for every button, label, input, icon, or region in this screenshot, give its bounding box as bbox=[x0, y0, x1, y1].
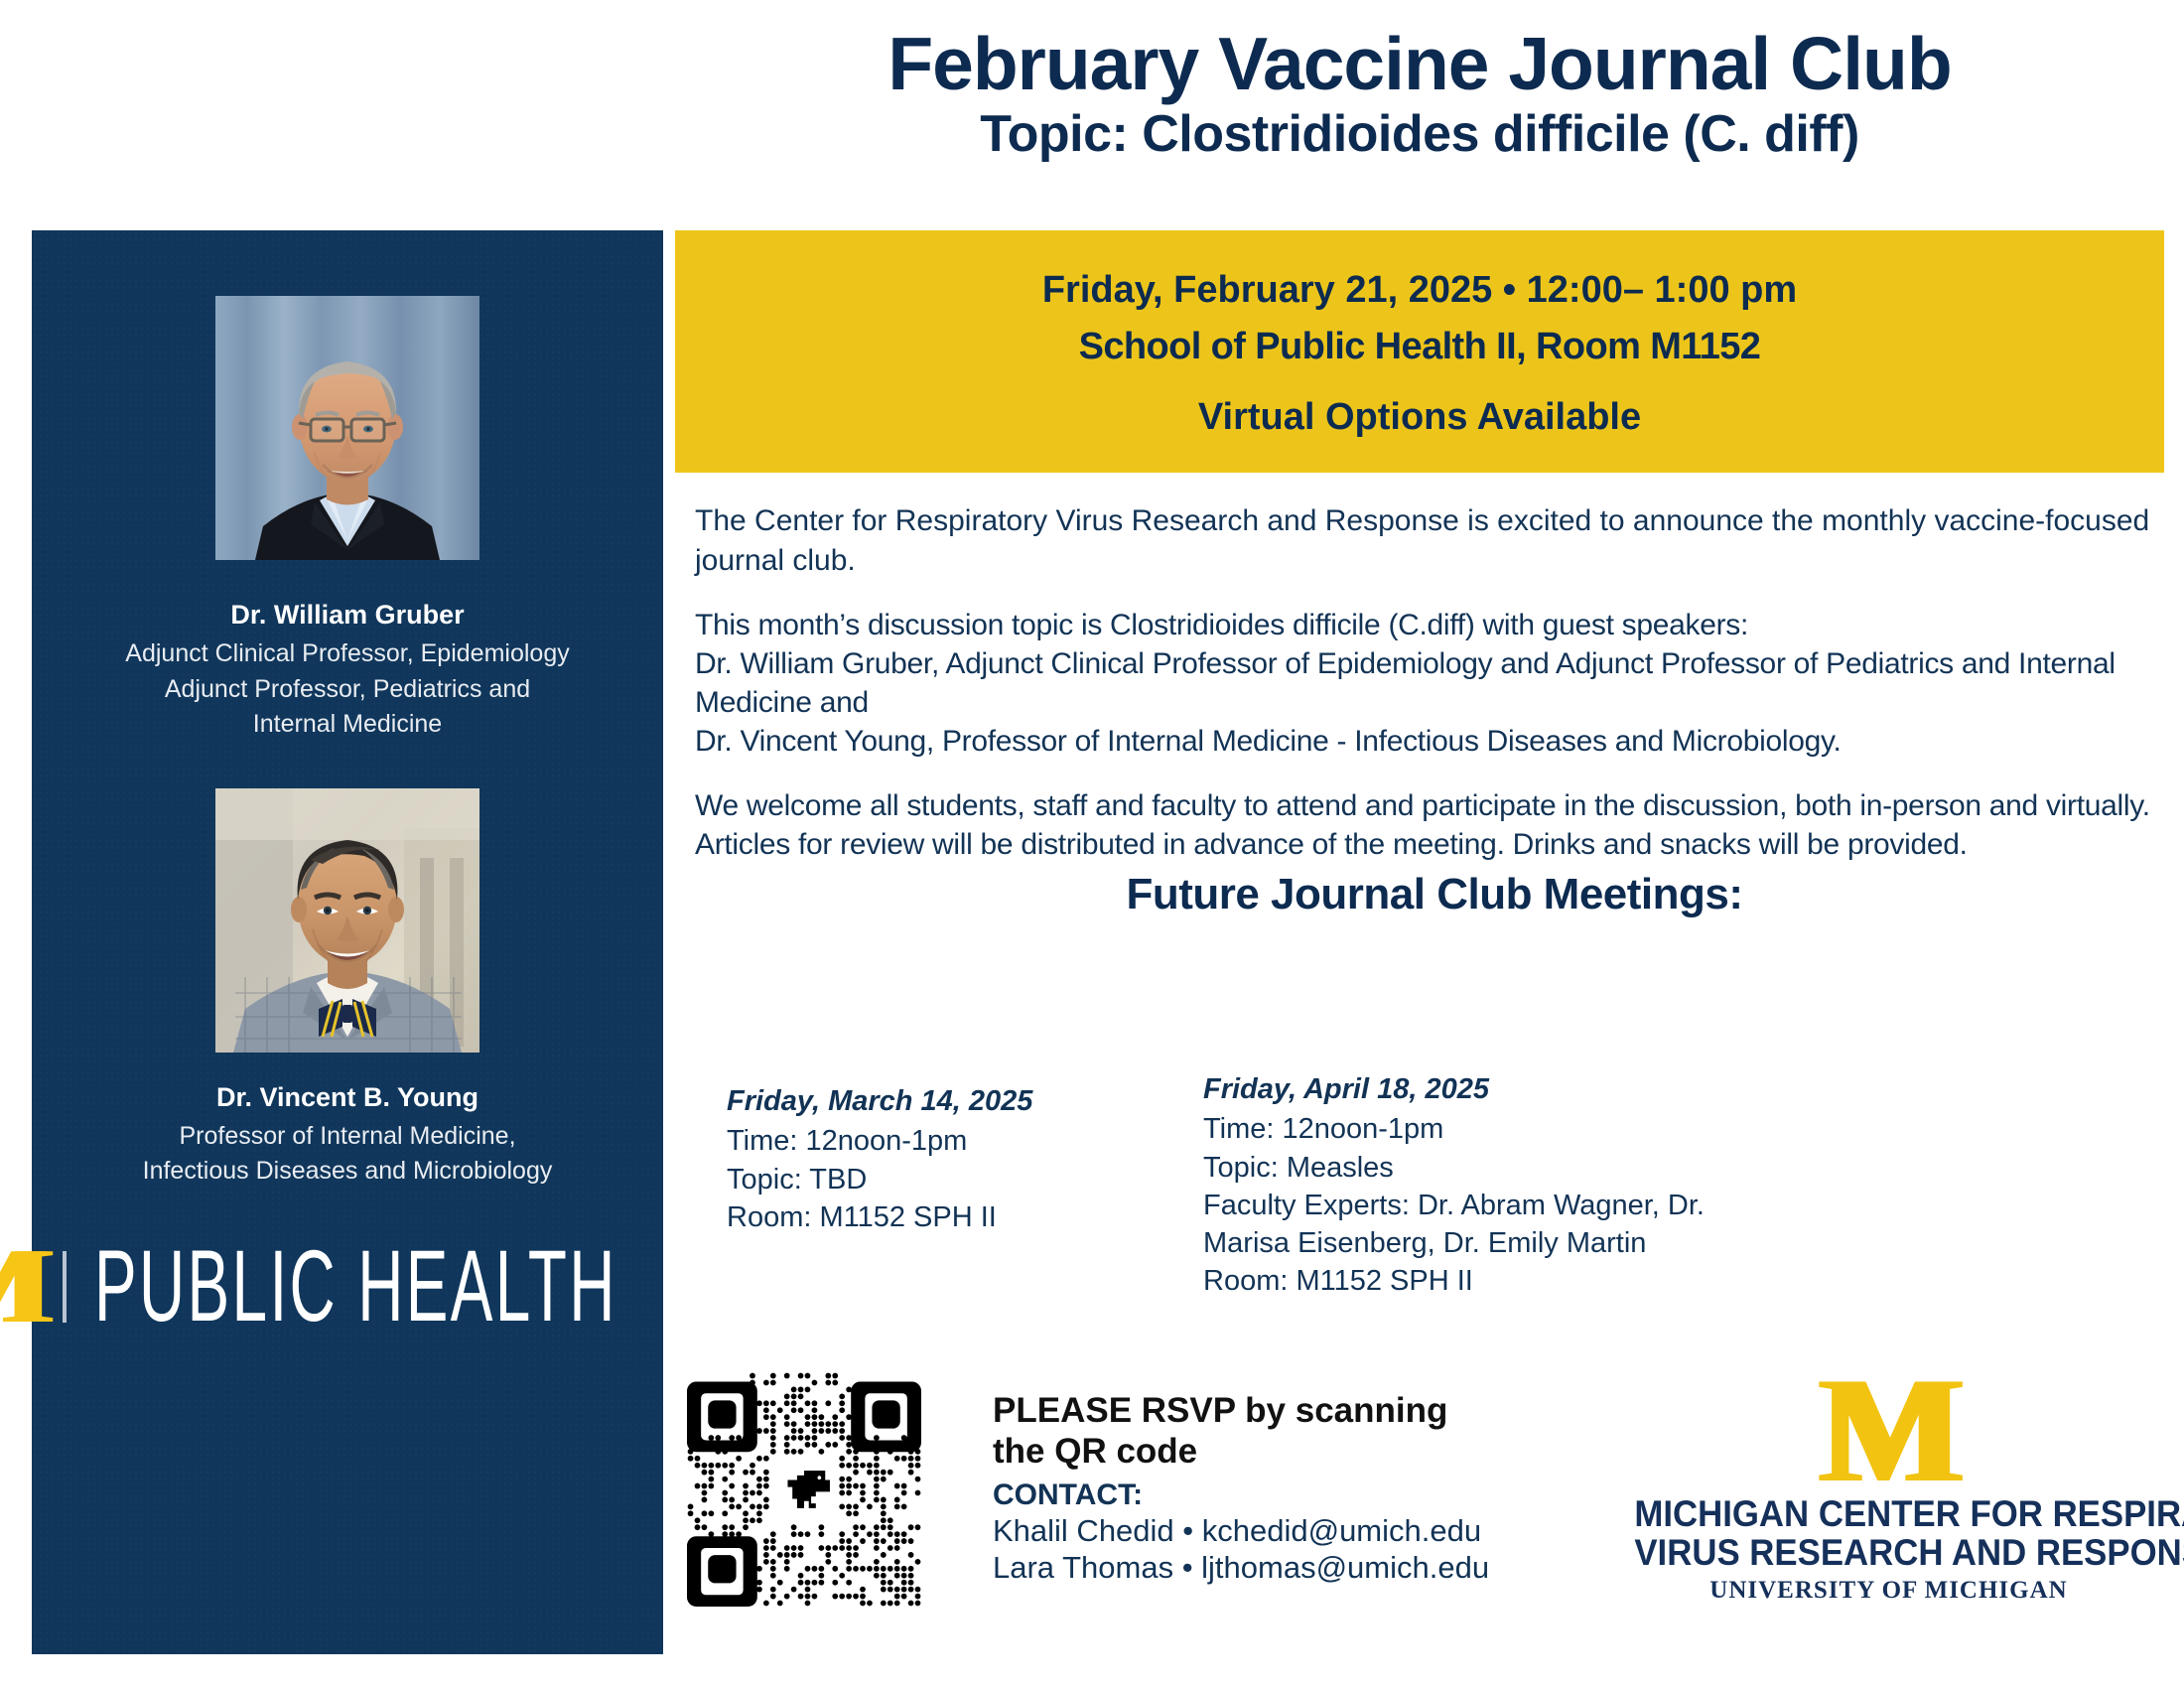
logo-divider bbox=[63, 1251, 67, 1323]
crvrr-name-line-1: MICHIGAN CENTER FOR RESPIRATORY bbox=[1634, 1494, 2142, 1533]
rsvp-qr-code[interactable]: dots bbox=[687, 1372, 921, 1607]
topic-line: This month’s discussion topic is Clostri… bbox=[695, 606, 2174, 644]
page-title: February Vaccine Journal Club bbox=[675, 28, 2164, 101]
crvrr-name-line-2: VIRUS RESEARCH AND RESPONSE bbox=[1634, 1533, 2142, 1572]
block-m-icon: M bbox=[1618, 1368, 2159, 1492]
welcome-paragraph: We welcome all students, staff and facul… bbox=[695, 786, 2174, 864]
speaker-title-line: Adjunct Professor, Pediatrics and bbox=[50, 672, 645, 708]
future-meetings-heading: Future Journal Club Meetings: bbox=[695, 870, 2174, 919]
speaker-title-line: Infectious Diseases and Microbiology bbox=[50, 1154, 645, 1190]
speaker-photo-gruber bbox=[215, 296, 479, 560]
contact-lara-thomas[interactable]: Lara Thomas • ljthomas@umich.edu bbox=[993, 1549, 1549, 1587]
qr-code-icon[interactable]: dots bbox=[687, 1372, 921, 1607]
topic-paragraph: This month’s discussion topic is Clostri… bbox=[695, 606, 2174, 761]
rsvp-headline-line: PLEASE RSVP by scanning bbox=[993, 1390, 1549, 1431]
event-datetime: Friday, February 21, 2025 • 12:00– 1:00 … bbox=[675, 269, 2164, 312]
speaker-titles-gruber: Adjunct Clinical Professor, Epidemiology… bbox=[50, 636, 645, 743]
meeting-detail: Time: 12noon-1pm bbox=[1203, 1110, 1839, 1148]
meeting-date: Friday, April 18, 2025 bbox=[1203, 1070, 1839, 1108]
contact-label: CONTACT: bbox=[993, 1478, 1549, 1512]
page-header: February Vaccine Journal Club Topic: Clo… bbox=[675, 28, 2164, 161]
crvrr-university-line: UNIVERSITY OF MICHIGAN bbox=[1618, 1577, 2159, 1605]
rsvp-block: PLEASE RSVP by scanning the QR code CONT… bbox=[993, 1390, 1549, 1587]
meeting-date: Friday, March 14, 2025 bbox=[727, 1082, 1183, 1120]
main-body-text: The Center for Respiratory Virus Researc… bbox=[695, 501, 2174, 919]
rsvp-headline-line: the QR code bbox=[993, 1431, 1549, 1472]
speaker-photo-frame-gruber bbox=[215, 296, 479, 560]
future-meeting-april: Friday, April 18, 2025 Time: 12noon-1pm … bbox=[1203, 1070, 1839, 1301]
speakers-sidebar: Dr. William Gruber Adjunct Clinical Prof… bbox=[32, 230, 663, 1654]
meeting-detail: Topic: Measles bbox=[1203, 1149, 1839, 1187]
page-subtitle: Topic: Clostridioides difficile (C. diff… bbox=[675, 107, 2164, 162]
meeting-detail: Room: M1152 SPH II bbox=[727, 1198, 1183, 1236]
block-m-icon: M bbox=[0, 1245, 49, 1329]
event-details-banner: Friday, February 21, 2025 • 12:00– 1:00 … bbox=[675, 230, 2164, 473]
future-meetings-list: Friday, March 14, 2025 Time: 12noon-1pm … bbox=[695, 1070, 2164, 1301]
michigan-public-health-logo: M PUBLIC HEALTH bbox=[0, 1245, 765, 1329]
paragraph-spacer bbox=[695, 580, 2174, 606]
event-location: School of Public Health II, Room M1152 bbox=[675, 326, 2164, 368]
public-health-wordmark: PUBLIC HEALTH bbox=[94, 1243, 617, 1330]
meeting-detail: Room: M1152 SPH II bbox=[1203, 1262, 1839, 1300]
paragraph-spacer bbox=[695, 761, 2174, 786]
meeting-detail: Faculty Experts: Dr. Abram Wagner, Dr. bbox=[1203, 1187, 1839, 1224]
intro-paragraph: The Center for Respiratory Virus Researc… bbox=[695, 501, 2174, 580]
speaker-photo-young bbox=[215, 788, 479, 1053]
speaker-title-line: Professor of Internal Medicine, bbox=[50, 1119, 645, 1155]
meeting-detail: Marisa Eisenberg, Dr. Emily Martin bbox=[1203, 1224, 1839, 1262]
meeting-detail: Time: 12noon-1pm bbox=[727, 1122, 1183, 1160]
crvrr-logo: M MICHIGAN CENTER FOR RESPIRATORY VIRUS … bbox=[1618, 1368, 2159, 1605]
dinosaur-logo-icon bbox=[780, 1466, 830, 1512]
speaker-title-line: Internal Medicine bbox=[50, 707, 645, 743]
future-meeting-march: Friday, March 14, 2025 Time: 12noon-1pm … bbox=[727, 1070, 1183, 1301]
speaker-name-young: Dr. Vincent B. Young bbox=[216, 1082, 478, 1113]
speaker-name-gruber: Dr. William Gruber bbox=[230, 600, 464, 631]
speaker-photo-frame-young bbox=[215, 788, 479, 1053]
speaker-titles-young: Professor of Internal Medicine, Infectio… bbox=[50, 1119, 645, 1190]
speaker-title-line: Adjunct Clinical Professor, Epidemiology bbox=[50, 636, 645, 672]
topic-line: Dr. William Gruber, Adjunct Clinical Pro… bbox=[695, 644, 2174, 722]
rsvp-headline: PLEASE RSVP by scanning the QR code bbox=[993, 1390, 1549, 1473]
event-virtual-note: Virtual Options Available bbox=[675, 396, 2164, 439]
meeting-detail: Topic: TBD bbox=[727, 1161, 1183, 1198]
contact-khalil-chedid[interactable]: Khalil Chedid • kchedid@umich.edu bbox=[993, 1512, 1549, 1550]
topic-line: Dr. Vincent Young, Professor of Internal… bbox=[695, 722, 2174, 761]
